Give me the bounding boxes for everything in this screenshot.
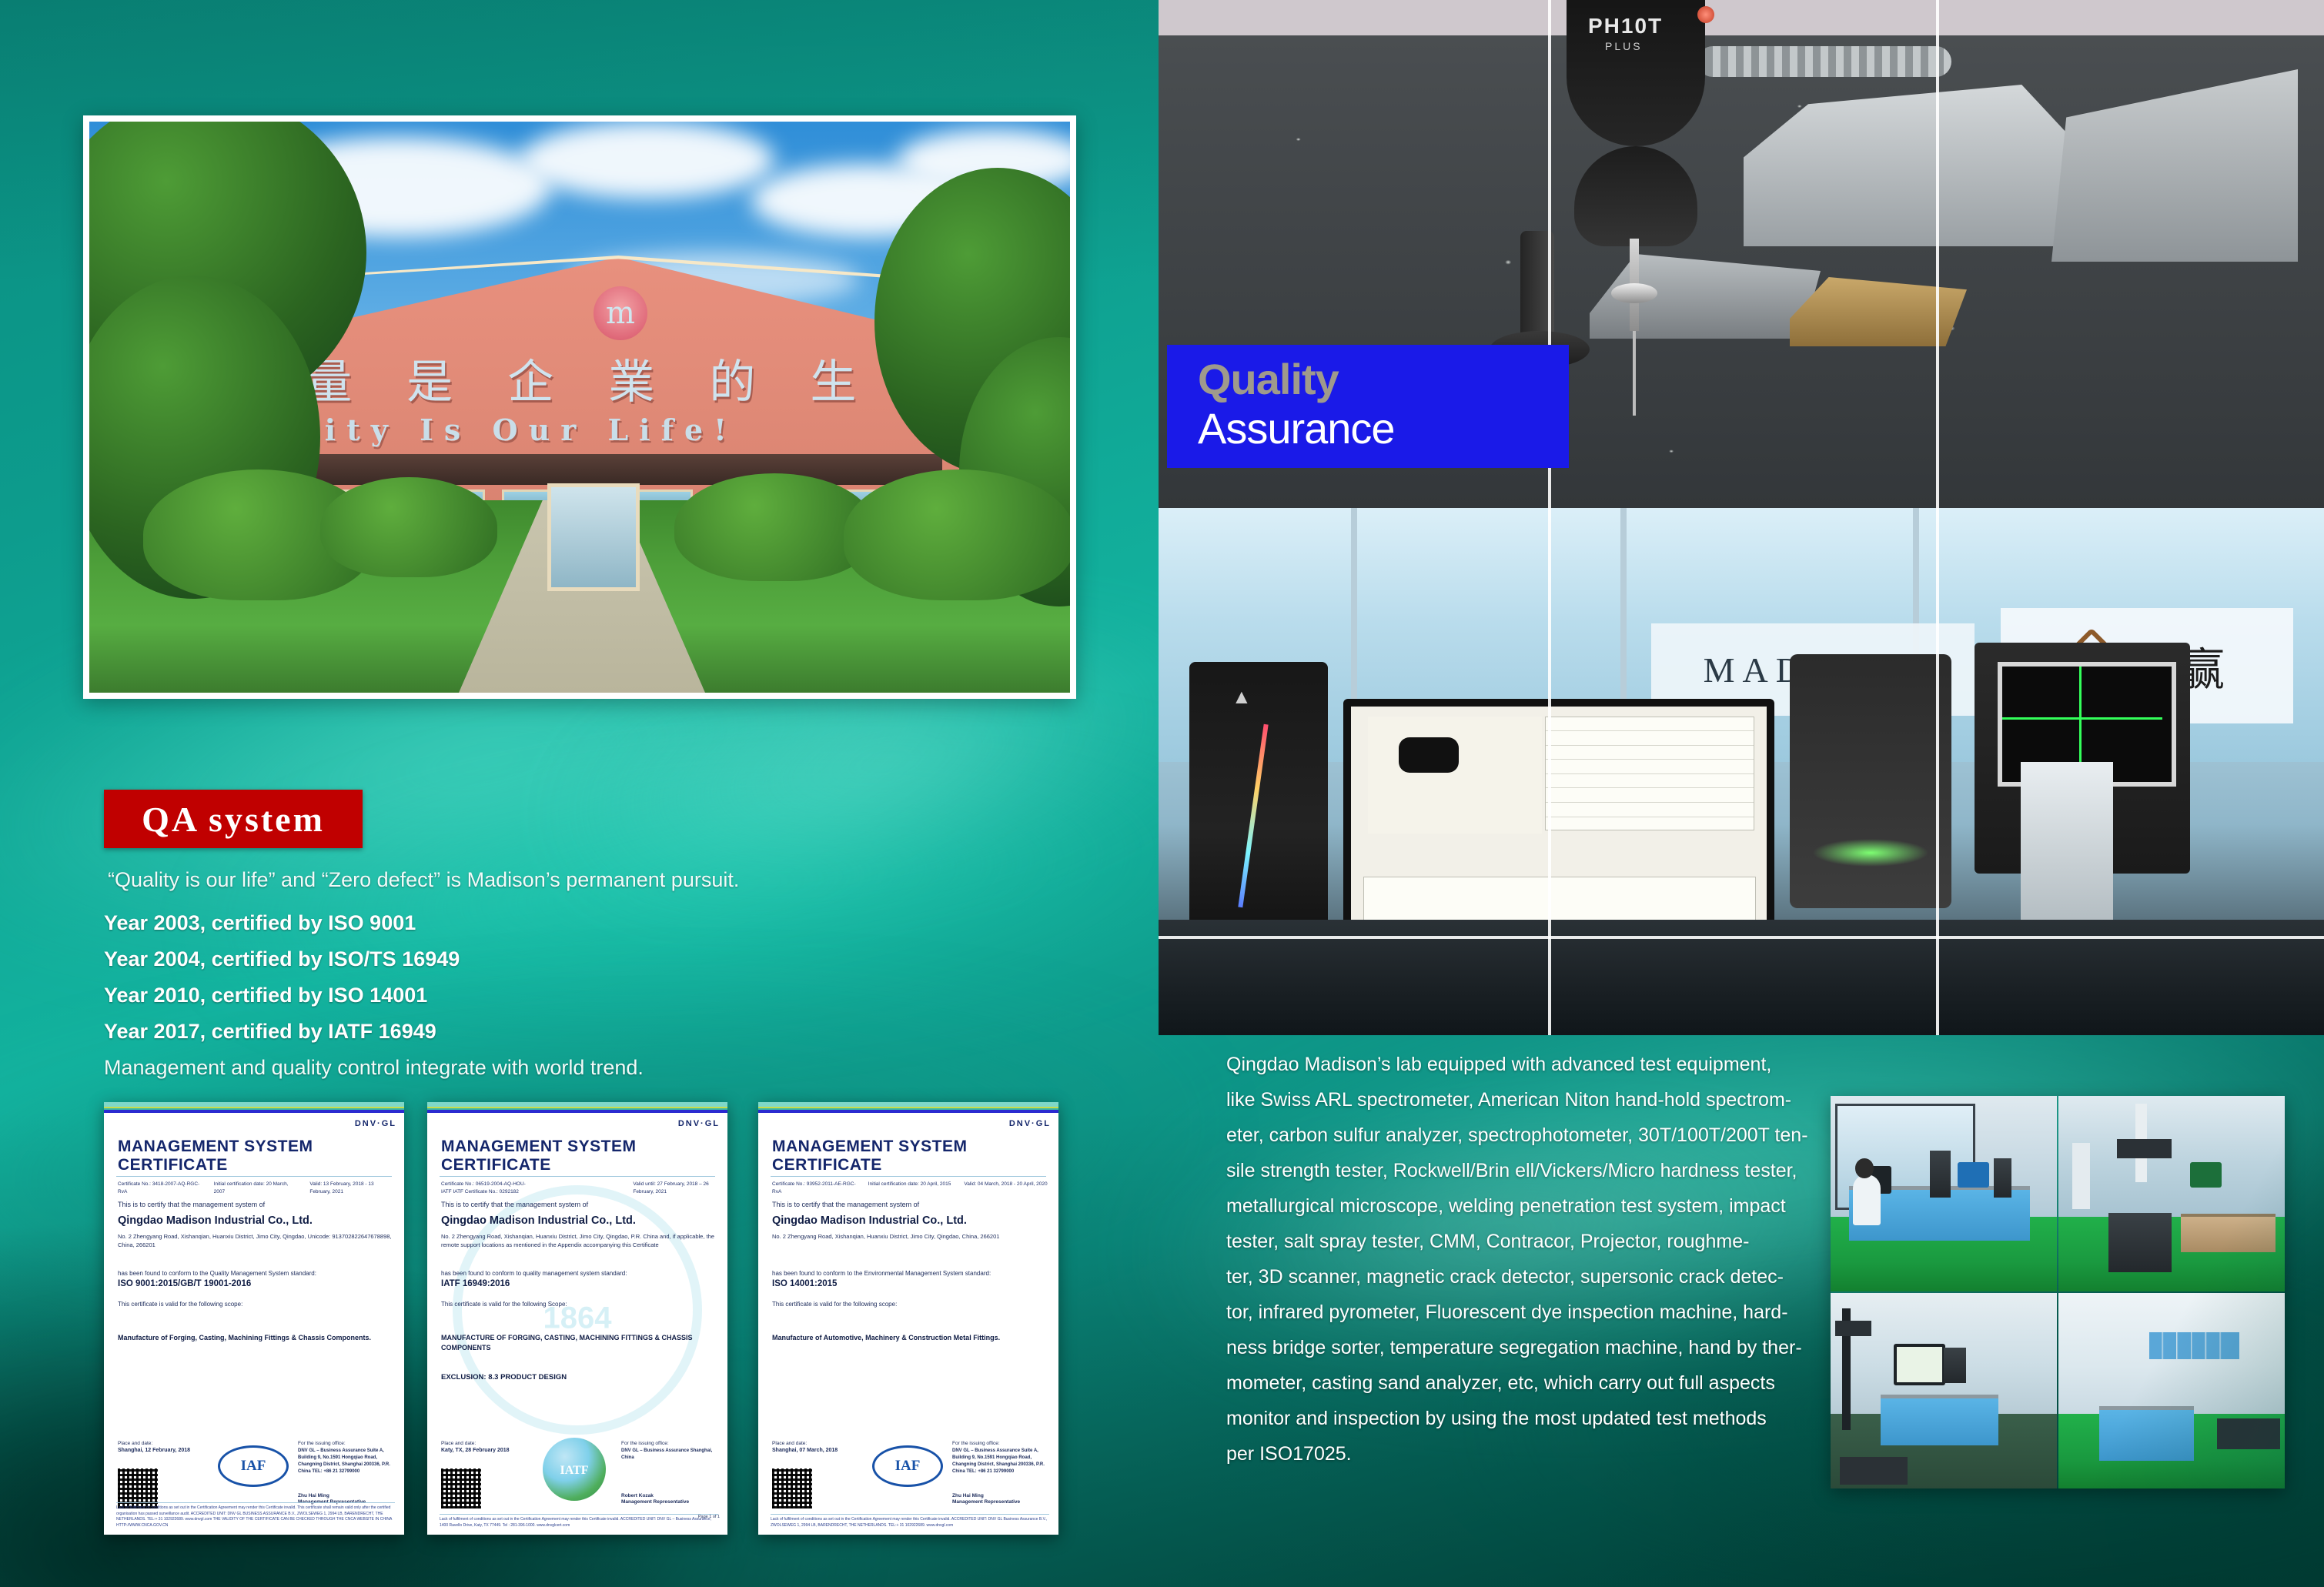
lab-desc-line: monitor and inspection by using the most…	[1226, 1401, 1811, 1436]
company-logo-icon: m	[594, 286, 647, 340]
milestone-2017: Year 2017, certified by IATF 16949	[104, 1020, 951, 1044]
lab-equipment-photo: MADISON 天赢 ▲	[1159, 508, 2324, 1035]
certificate-footer: Lack of fulfilment of conditions as set …	[771, 1514, 1049, 1529]
qa-system-title-badge: QA system	[104, 790, 363, 848]
brochure-page: m 質 量 是 企 業 的 生 命 Quality Is Our Life!	[0, 0, 2324, 1587]
certificate-validity: Valid: 13 February, 2018 - 13 February, …	[309, 1181, 395, 1196]
lab-desc-line: ness bridge sorter, temperature segregat…	[1226, 1330, 1811, 1365]
certificate-address: No. 2 Zhengyang Road, Xishanqian, Huanxi…	[441, 1233, 717, 1250]
lab-bench	[1881, 1395, 1998, 1445]
photo-divider	[1936, 508, 1939, 1035]
certificate-office-label: For the issuing office:	[621, 1441, 669, 1446]
probe-model-sub-label: PLUS	[1605, 40, 1643, 52]
qa-lead-text: “Quality is our life” and “Zero defect” …	[108, 868, 1078, 892]
iaf-accreditation-icon: IAF	[872, 1445, 943, 1487]
lab-photo-operator-at-bench	[1831, 1096, 2057, 1291]
certificate-heading: MANAGEMENT SYSTEM CERTIFICATE	[772, 1138, 1058, 1174]
certificate-office-label: For the issuing office:	[952, 1441, 1000, 1446]
stylus-tip	[1633, 331, 1636, 416]
certificate-conform-line: has been found to conform to quality man…	[441, 1270, 717, 1277]
photo-divider	[1936, 0, 1939, 508]
threaded-shaft	[1697, 46, 1951, 77]
inspection-bench	[2099, 1406, 2194, 1461]
certificate-office: DNV GL – Business Assurance Suite A, Bui…	[952, 1448, 1052, 1475]
dnv-gl-logo: DNV·GL	[1009, 1119, 1051, 1128]
certificate-number: Certificate No.: 93952-2011-AE-RGC-RvA	[772, 1181, 858, 1196]
qr-code-icon	[441, 1468, 481, 1508]
lab-photo-grid	[1831, 1096, 2285, 1488]
certificate-scope-line: This certificate is valid for the follow…	[772, 1301, 1048, 1308]
dnv-gl-logo: DNV·GL	[678, 1119, 720, 1128]
certificate-place-label: Place and date:	[441, 1441, 476, 1446]
certificate-meta: Certificate No.: 06519-2004-AQ-HOU-IATF …	[441, 1181, 718, 1196]
cmm-base	[2108, 1213, 2172, 1271]
banner-line-2: Assurance	[1198, 403, 1395, 453]
scanner-head	[1835, 1321, 1871, 1336]
lab-desc-line: ter, 3D scanner, magnetic crack detector…	[1226, 1259, 1811, 1295]
qa-closing-text: Management and quality control integrate…	[104, 1056, 1028, 1080]
operator-head	[1855, 1158, 1874, 1178]
quality-assurance-banner: Quality Assurance	[1167, 345, 1569, 468]
tool-cabinets	[2149, 1332, 2240, 1360]
certificate-spacer	[537, 1181, 623, 1196]
monitor-screen	[1351, 707, 1767, 951]
certificate-conform-line: has been found to conform to the Quality…	[118, 1270, 393, 1277]
certificate-signer: Robert Kozak	[621, 1493, 654, 1498]
certificate-initial-date: Initial certification date: 20 March, 20…	[214, 1181, 299, 1196]
certificate-conform-line: has been found to conform to the Environ…	[772, 1270, 1048, 1277]
lab-photo-inspection-room	[2058, 1293, 2285, 1488]
certificate-number: Certificate No.: 3418-2007-AQ-RGC-RvA	[118, 1181, 203, 1196]
certificate-intro: This is to certify that the management s…	[118, 1201, 265, 1208]
certificate-exclusion: EXCLUSION: 8.3 PRODUCT DESIGN	[441, 1373, 717, 1382]
lab-desc-line: eter, carbon sulfur analyzer, spectropho…	[1226, 1118, 1811, 1153]
milestone-2004: Year 2004, certified by ISO/TS 16949	[104, 947, 951, 971]
certificate-iatf16949[interactable]: 1864 DNV·GL MANAGEMENT SYSTEM CERTIFICAT…	[427, 1102, 727, 1535]
certificate-validity: Valid until: 27 February, 2018 – 26 Febr…	[633, 1181, 718, 1196]
certificate-scope: Manufacture of Forging, Casting, Machini…	[118, 1333, 393, 1343]
stylus-collar	[1611, 283, 1657, 303]
certificate-office: DNV GL – Business Assurance Shanghai, Ch…	[621, 1448, 721, 1462]
lab-desc-line: like Swiss ARL spectrometer, American Ni…	[1226, 1082, 1811, 1118]
photo-divider	[1548, 508, 1551, 1035]
certificate-address: No. 2 Zhengyang Road, Xishanqian, Huanxi…	[118, 1233, 393, 1250]
certificate-standard: ISO 9001:2015/GB/T 19001-2016	[118, 1279, 251, 1288]
certificate-signer: Zhu Hai Ming	[298, 1493, 329, 1498]
lab-photo-cmm-room	[2058, 1096, 2285, 1291]
cloud	[520, 122, 774, 199]
certificate-place-label: Place and date:	[118, 1441, 152, 1446]
certificate-place: Shanghai, 07 March, 2018	[772, 1448, 838, 1453]
certificate-heading: MANAGEMENT SYSTEM CERTIFICATE	[441, 1138, 727, 1174]
certificate-intro: This is to certify that the management s…	[441, 1201, 588, 1208]
certificate-meta: Certificate No.: 93952-2011-AE-RGC-RvA I…	[772, 1181, 1049, 1196]
lab-desc-line: tester, salt spray tester, CMM, Contraco…	[1226, 1224, 1811, 1259]
shrub	[844, 469, 1070, 600]
crosshair-horizontal-icon	[2002, 717, 2162, 720]
probe-indicator-icon	[1697, 6, 1714, 23]
certificate-heading: MANAGEMENT SYSTEM CERTIFICATE	[118, 1138, 404, 1174]
qa-system-title-text: QA system	[142, 799, 325, 840]
pc-logo-icon: ▲	[1232, 685, 1252, 709]
measuring-instrument	[1930, 1151, 1950, 1198]
banner-line-1: Quality	[1198, 354, 1339, 404]
pc-tower	[1944, 1348, 1966, 1383]
cmm-bridge	[2117, 1139, 2172, 1158]
iatf-accreditation-label: IATF	[543, 1464, 606, 1478]
certificate-scope: Manufacture of Automotive, Machinery & C…	[772, 1333, 1048, 1343]
lab-desc-line: Qingdao Madison’s lab equipped with adva…	[1226, 1047, 1811, 1082]
monitor	[1958, 1162, 1989, 1188]
lab-operator	[1853, 1174, 1880, 1225]
certificate-office-label: For the issuing office:	[298, 1441, 346, 1446]
certificate-meta: Certificate No.: 3418-2007-AQ-RGC-RvA In…	[118, 1181, 395, 1196]
certificate-iso14001[interactable]: DNV·GL MANAGEMENT SYSTEM CERTIFICATE Cer…	[758, 1102, 1058, 1535]
certificate-number: Certificate No.: 06519-2004-AQ-HOU-IATF …	[441, 1181, 527, 1196]
certificate-validity: Valid: 04 March, 2018 - 20 April, 2020	[964, 1181, 1049, 1196]
granite-surface-plate	[2217, 1418, 2280, 1450]
certificate-place-label: Place and date:	[772, 1441, 807, 1446]
lab-description-text: Qingdao Madison’s lab equipped with adva…	[1226, 1047, 1811, 1472]
lab-desc-line: metallurgical microscope, welding penetr…	[1226, 1188, 1811, 1224]
monitor	[1894, 1344, 1945, 1385]
certificate-address: No. 2 Zhengyang Road, Xishanqian, Huanxi…	[772, 1233, 1048, 1241]
certificate-company: Qingdao Madison Industrial Co., Ltd.	[772, 1214, 967, 1227]
certificate-top-stripes	[427, 1102, 727, 1114]
certificate-standard: ISO 14001:2015	[772, 1279, 837, 1288]
certificate-place: Katy, TX, 28 February 2018	[441, 1448, 510, 1453]
certificate-footer: Lack of fulfilment of conditions as set …	[440, 1514, 718, 1529]
certificate-scope-line: This certificate is valid for the follow…	[441, 1301, 717, 1308]
surface-plate	[1840, 1457, 1908, 1485]
lab-desc-line: tor, infrared pyrometer, Fluorescent dye…	[1226, 1295, 1811, 1330]
microscope-stage-light	[1813, 839, 1928, 867]
shrub	[320, 477, 497, 577]
photo-divider	[1159, 936, 2324, 939]
air-conditioner	[2072, 1143, 2091, 1209]
certificate-place: Shanghai, 12 February, 2018	[118, 1448, 190, 1453]
certificate-initial-date: Initial certification date: 20 April, 20…	[868, 1181, 954, 1196]
certificate-iso9001[interactable]: DNV·GL MANAGEMENT SYSTEM CERTIFICATE Cer…	[104, 1102, 404, 1535]
lab-photo-3d-scanner	[1831, 1293, 2057, 1488]
entrance-door	[547, 483, 640, 591]
lab-desc-line: mometer, casting sand analyzer, etc, whi…	[1226, 1365, 1811, 1401]
qr-code-icon	[772, 1468, 812, 1508]
certificate-top-stripes	[758, 1102, 1058, 1114]
pc-tower	[1189, 662, 1328, 939]
certificate-signer: Zhu Hai Ming	[952, 1493, 984, 1498]
pc-tower	[1994, 1158, 2012, 1198]
monitor	[2190, 1162, 2222, 1188]
milestone-2010: Year 2010, certified by ISO 14001	[104, 984, 951, 1007]
certificate-signer-role: Management Representative	[952, 1499, 1020, 1505]
factory-building-photo: m 質 量 是 企 業 的 生 命 Quality Is Our Life!	[83, 115, 1076, 699]
probe-model-label: PH10T	[1588, 14, 1663, 38]
desk	[2181, 1214, 2276, 1252]
certificate-signer-role: Management Representative	[621, 1499, 689, 1505]
lab-desc-line: per ISO17025.	[1226, 1436, 1811, 1472]
certificate-company: Qingdao Madison Industrial Co., Ltd.	[118, 1214, 313, 1227]
certificate-office: DNV GL – Business Assurance Suite A, Bui…	[298, 1448, 398, 1475]
equipment-cabinet	[2021, 762, 2113, 939]
right-photo-block: PH10T PLUS MADISON 天赢	[1159, 0, 2324, 1035]
metallurgical-microscope	[1790, 654, 1951, 908]
certificate-scope: MANUFACTURE OF FORGING, CASTING, MACHINI…	[441, 1333, 717, 1352]
certificate-company: Qingdao Madison Industrial Co., Ltd.	[441, 1214, 636, 1227]
iaf-accreditation-icon: IAF	[218, 1445, 289, 1487]
certificate-standard: IATF 16949:2016	[441, 1279, 510, 1288]
crosshair-vertical-icon	[2079, 667, 2082, 773]
certificate-intro: This is to certify that the management s…	[772, 1201, 919, 1208]
milestone-2003: Year 2003, certified by ISO 9001	[104, 911, 951, 935]
certificate-footer: Lack of fulfilment of conditions as set …	[116, 1502, 395, 1529]
lab-desc-line: sile strength tester, Rockwell/Brin ell/…	[1226, 1153, 1811, 1188]
dnv-gl-logo: DNV·GL	[355, 1119, 396, 1128]
certificate-top-stripes	[104, 1102, 404, 1114]
certificate-scope-line: This certificate is valid for the follow…	[118, 1301, 393, 1308]
